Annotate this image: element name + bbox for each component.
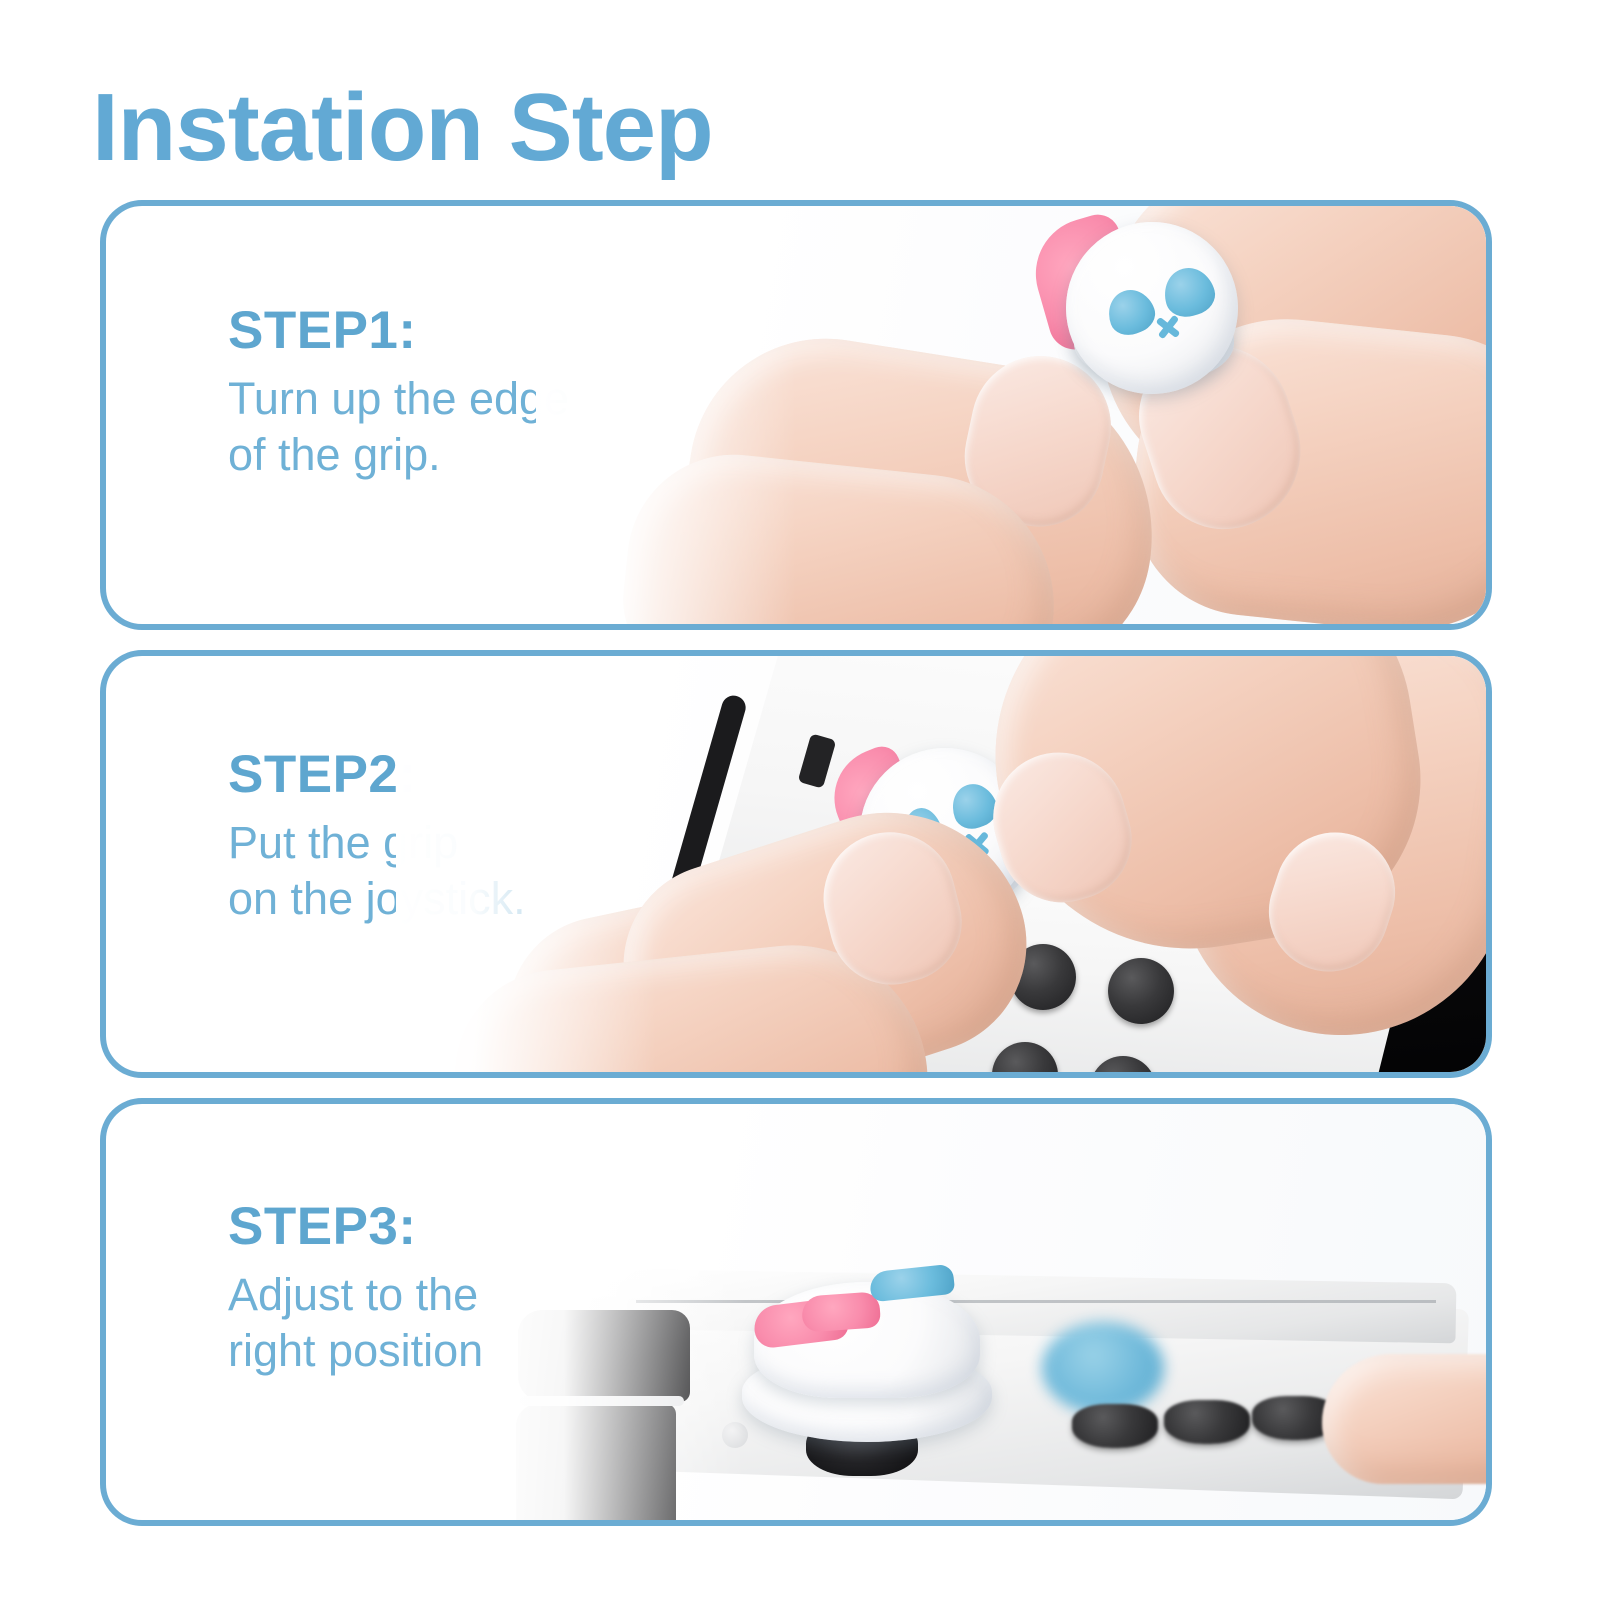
- infographic-page: Instation Step STEP1: Turn up the: [0, 0, 1598, 1598]
- step-3-label: STEP3:: [228, 1196, 496, 1259]
- step-card-3: STEP3: Adjust to the right position.: [100, 1098, 1492, 1526]
- step-3-photo: [486, 1104, 1486, 1520]
- step-2-text-block: STEP2: Put the grip on the joystick.: [228, 744, 526, 928]
- step-1-description: Turn up the edge of the grip.: [228, 371, 569, 484]
- page-title: Instation Step: [92, 78, 713, 179]
- step-2-label: STEP2:: [228, 744, 526, 807]
- step-1-photo: [536, 206, 1486, 624]
- grip-pink-bow-fold: [801, 1291, 881, 1332]
- shoulder-button-lower: [516, 1404, 676, 1520]
- face-button-2: [1164, 1400, 1250, 1444]
- blurred-blue-accent: [1042, 1322, 1164, 1414]
- holding-hand-finger-top: [1322, 1354, 1486, 1484]
- step-2-photo: [396, 656, 1486, 1072]
- step-3-text-block: STEP3: Adjust to the right position.: [228, 1196, 496, 1380]
- step-2-description: Put the grip on the joystick.: [228, 815, 526, 928]
- step-1-label: STEP1:: [228, 300, 569, 363]
- step-1-text-block: STEP1: Turn up the edge of the grip.: [228, 300, 569, 484]
- step-card-1: STEP1: Turn up the edge of the grip.: [100, 200, 1492, 630]
- shoulder-button-upper: [518, 1310, 690, 1402]
- controller-seam-line: [636, 1300, 1436, 1303]
- shoulder-button-divider: [520, 1396, 684, 1406]
- dpad-button-right: [1108, 958, 1174, 1024]
- step-3-description: Adjust to the right position.: [228, 1267, 496, 1380]
- step-card-2: STEP2: Put the grip on the joystick.: [100, 650, 1492, 1078]
- controller-screw-hole: [722, 1422, 748, 1448]
- face-button-1: [1072, 1404, 1158, 1448]
